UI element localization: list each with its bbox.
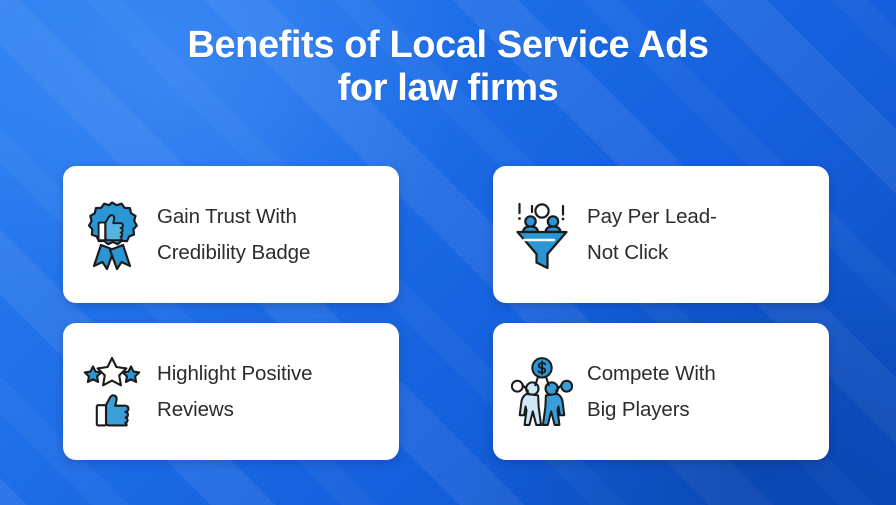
title-line-1: Benefits of Local Service Ads bbox=[187, 24, 708, 66]
label-line-2: Credibility Badge bbox=[157, 235, 310, 270]
credibility-badge-icon bbox=[81, 198, 143, 272]
benefits-grid: Gain Trust With Credibility Badge bbox=[63, 166, 829, 460]
label-line-2: Reviews bbox=[157, 392, 312, 427]
compete-dollar-icon bbox=[511, 355, 573, 429]
benefit-card-credibility: Gain Trust With Credibility Badge bbox=[63, 166, 399, 303]
label-line-1: Highlight Positive bbox=[157, 356, 312, 391]
star-rating-thumbsup-icon bbox=[81, 355, 143, 429]
benefit-card-label: Gain Trust With Credibility Badge bbox=[157, 199, 310, 270]
benefit-card-compete: Compete With Big Players bbox=[493, 323, 829, 460]
benefit-card-reviews: Highlight Positive Reviews bbox=[63, 323, 399, 460]
infographic-poster: Benefits of Local Service Ads for law fi… bbox=[0, 0, 896, 505]
benefit-card-label: Pay Per Lead- Not Click bbox=[587, 199, 717, 270]
title-line-2: for law firms bbox=[0, 67, 896, 110]
label-line-2: Not Click bbox=[587, 235, 717, 270]
label-line-2: Big Players bbox=[587, 392, 716, 427]
benefit-card-label: Highlight Positive Reviews bbox=[157, 356, 312, 427]
lead-funnel-icon bbox=[511, 198, 573, 272]
label-line-1: Compete With bbox=[587, 356, 716, 391]
label-line-1: Pay Per Lead- bbox=[587, 199, 717, 234]
page-title: Benefits of Local Service Ads for law fi… bbox=[0, 24, 896, 109]
benefit-card-label: Compete With Big Players bbox=[587, 356, 716, 427]
benefit-card-pay-per-lead: Pay Per Lead- Not Click bbox=[493, 166, 829, 303]
label-line-1: Gain Trust With bbox=[157, 199, 310, 234]
